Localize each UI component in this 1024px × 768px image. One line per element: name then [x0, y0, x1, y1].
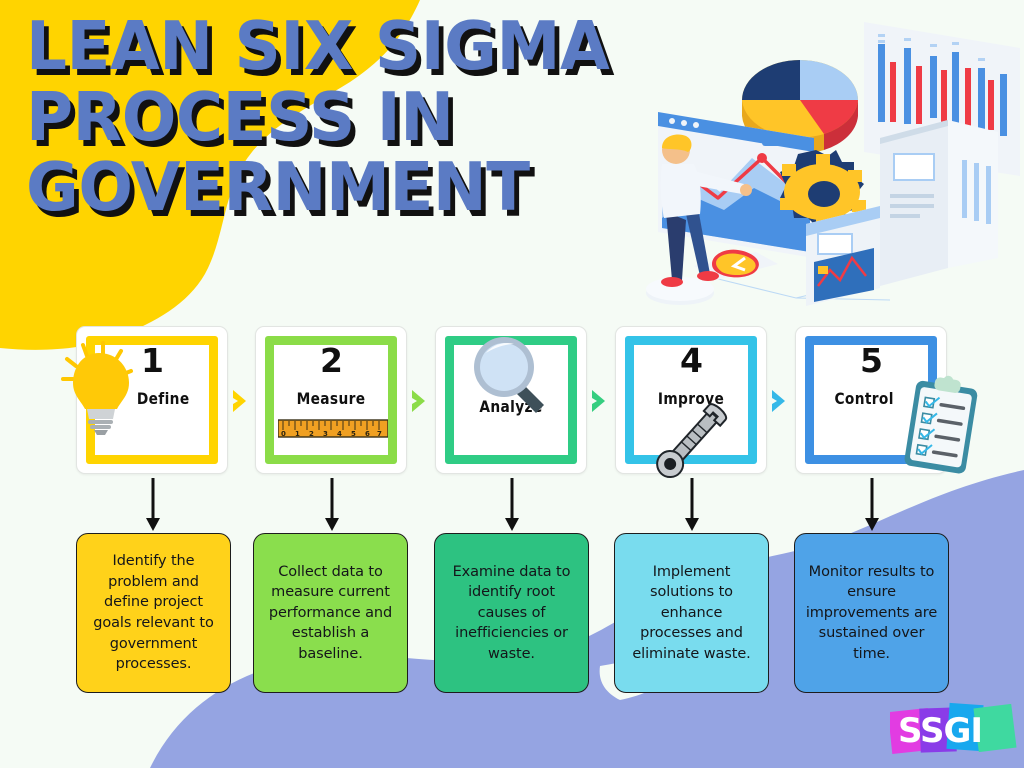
title-line-3: Government [26, 155, 640, 221]
description-box-define: Identify the problem and define project … [76, 533, 231, 693]
step-card-control[interactable]: 5 Control [795, 326, 947, 474]
descriptions-row: Identify the problem and define project … [0, 533, 1024, 695]
description-box-measure: Collect data to measure current performa… [253, 533, 408, 693]
step-number-5: 5 [796, 341, 946, 380]
chevron-right-icon-3 [588, 388, 614, 414]
description-text-4: Implement solutions to enhance processes… [623, 562, 760, 665]
down-arrow-icon-4 [684, 478, 700, 532]
step-label-analyze: Analyze [447, 397, 576, 416]
infographic-canvas: Lean Six Sigma Process in Government [0, 0, 1024, 768]
step-label-improve: Improve [627, 389, 756, 408]
description-box-analyze: Examine data to identify root causes of … [434, 533, 589, 693]
ssgi-logo[interactable]: SSGI [890, 700, 1018, 762]
step-number-2: 2 [256, 341, 406, 380]
step-card-measure[interactable]: 012 345 67 2 Measure [255, 326, 407, 474]
description-text-2: Collect data to measure current performa… [262, 562, 399, 665]
description-text-1: Identify the problem and define project … [85, 551, 222, 675]
description-box-control: Monitor results to ensure improvements a… [794, 533, 949, 693]
title-line-1: Lean Six Sigma [26, 14, 640, 80]
down-arrow-icon-1 [145, 478, 161, 532]
ssgi-logo-text: SSGI [898, 711, 982, 751]
process-steps-row: 1 Define [0, 326, 1024, 476]
down-arrow-icon-3 [504, 478, 520, 532]
description-text-3: Examine data to identify root causes of … [443, 562, 580, 665]
chevron-right-icon-4 [768, 388, 794, 414]
step-number-4: 4 [616, 341, 766, 380]
description-text-5: Monitor results to ensure improvements a… [803, 562, 940, 665]
description-box-improve: Implement solutions to enhance processes… [614, 533, 769, 693]
step-label-measure: Measure [267, 389, 396, 408]
chevron-right-icon-2 [408, 388, 434, 414]
step-card-analyze[interactable]: 3 Analyze [435, 326, 587, 474]
server-rack [880, 120, 998, 286]
step-label-define: Define [88, 389, 217, 408]
step-label-control: Control [807, 389, 936, 408]
page-title: Lean Six Sigma Process in Government [26, 14, 666, 226]
step-number-1: 1 [77, 341, 227, 380]
step-card-define[interactable]: 1 Define [76, 326, 228, 474]
step-card-improve[interactable]: 4 Improve [615, 326, 767, 474]
title-line-2: Process in [26, 85, 640, 151]
down-arrow-icon-5 [864, 478, 880, 532]
down-arrow-icon-2 [324, 478, 340, 532]
step-number-3: 3 [446, 341, 586, 380]
hero-illustration [628, 8, 1024, 308]
chevron-right-icon-1 [229, 388, 255, 414]
